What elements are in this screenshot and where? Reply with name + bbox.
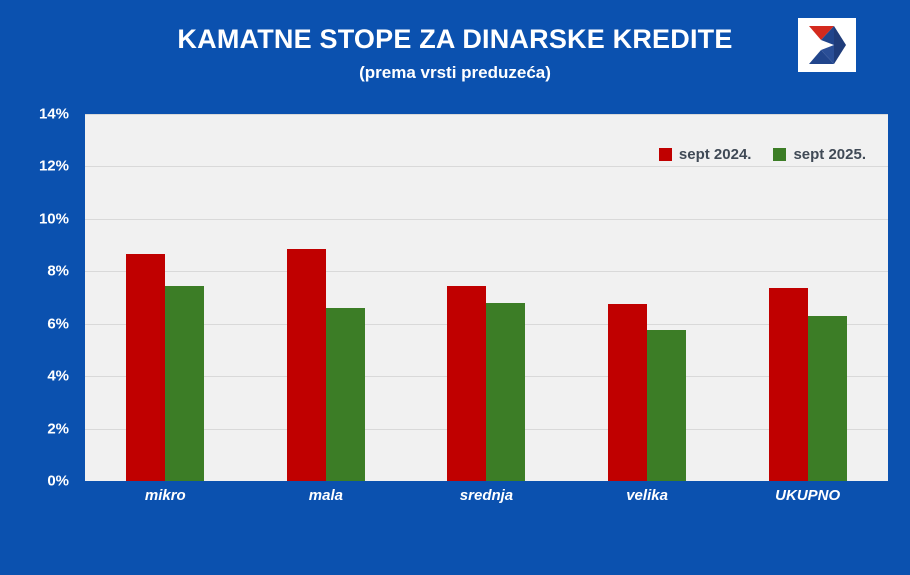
bars-layer	[85, 114, 888, 481]
header-banner: KAMATNE STOPE ZA DINARSKE KREDITE (prema…	[0, 0, 910, 100]
y-axis-tick-label: 8%	[47, 263, 69, 280]
bar-group	[727, 114, 888, 481]
bar-group	[406, 114, 567, 481]
bar-mikro-2025[interactable]	[165, 286, 204, 481]
bar-srednja-2024[interactable]	[447, 286, 486, 481]
y-axis-tick-label: 2%	[47, 420, 69, 437]
chart-legend: sept 2024.sept 2025.	[659, 146, 866, 163]
y-axis-tick-label: 4%	[47, 368, 69, 385]
legend-item-2024[interactable]: sept 2024.	[659, 146, 752, 163]
title-block: KAMATNE STOPE ZA DINARSKE KREDITE (prema…	[0, 22, 910, 85]
legend-item-2025[interactable]: sept 2025.	[773, 146, 866, 163]
page-subtitle: (prema vrsti preduzeća)	[0, 61, 910, 85]
bar-group	[246, 114, 407, 481]
bar-srednja-2025[interactable]	[486, 303, 525, 481]
y-axis-tick-label: 6%	[47, 315, 69, 332]
y-axis-tick-label: 10%	[39, 210, 69, 227]
bar-ukupno-2025[interactable]	[808, 316, 847, 481]
x-axis-tick-label: mikro	[85, 487, 246, 515]
chart-plot-area: sept 2024.sept 2025.	[85, 114, 888, 481]
bar-mikro-2024[interactable]	[126, 254, 165, 481]
legend-label: sept 2025.	[793, 146, 866, 163]
legend-swatch-icon	[659, 148, 672, 161]
nbs-logo	[798, 18, 856, 72]
y-axis-tick-label: 14%	[39, 106, 69, 123]
nbs-logo-icon	[798, 18, 856, 72]
bar-mala-2025[interactable]	[326, 308, 365, 481]
bar-mala-2024[interactable]	[287, 249, 326, 481]
bar-ukupno-2024[interactable]	[769, 288, 808, 481]
legend-swatch-icon	[773, 148, 786, 161]
y-axis-tick-label: 12%	[39, 158, 69, 175]
x-axis: mikromalasrednjavelikaUKUPNO	[85, 487, 888, 515]
y-axis-tick-label: 0%	[47, 473, 69, 490]
x-axis-tick-label: mala	[246, 487, 407, 515]
x-axis-tick-label: srednja	[406, 487, 567, 515]
x-axis-tick-label: velika	[567, 487, 728, 515]
y-axis: 0%2%4%6%8%10%12%14%	[0, 114, 79, 481]
bar-group	[85, 114, 246, 481]
page-title: KAMATNE STOPE ZA DINARSKE KREDITE	[0, 22, 910, 56]
bar-velika-2025[interactable]	[647, 330, 686, 481]
bar-velika-2024[interactable]	[608, 304, 647, 481]
x-axis-tick-label: UKUPNO	[727, 487, 888, 515]
legend-label: sept 2024.	[679, 146, 752, 163]
bar-group	[567, 114, 728, 481]
